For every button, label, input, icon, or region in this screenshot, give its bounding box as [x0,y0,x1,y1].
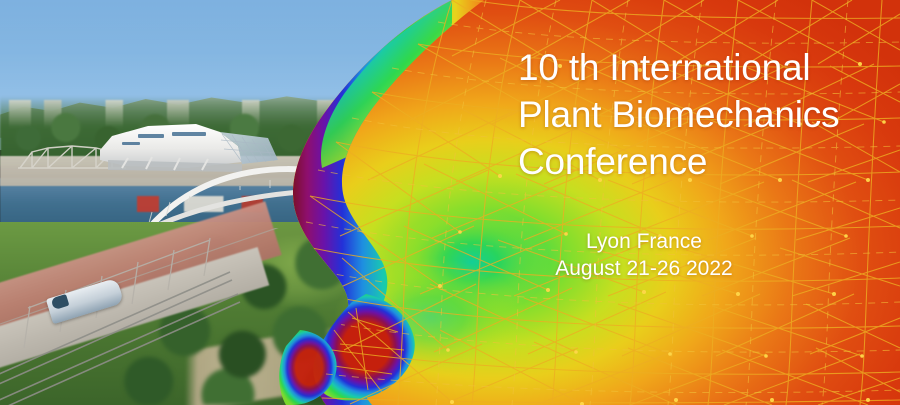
title-line-2: Plant Biomechanics [518,91,890,138]
conference-banner: 10 th International Plant Biomechanics C… [0,0,900,405]
location-line: Lyon France [510,228,778,255]
title-line-3: Conference [518,138,890,185]
dates-line: August 21-26 2022 [510,255,778,282]
conference-subtitle: Lyon France August 21-26 2022 [510,228,778,282]
text-layer: 10 th International Plant Biomechanics C… [0,0,900,405]
title-line-1: 10 th International [518,44,890,91]
conference-title: 10 th International Plant Biomechanics C… [518,44,890,185]
